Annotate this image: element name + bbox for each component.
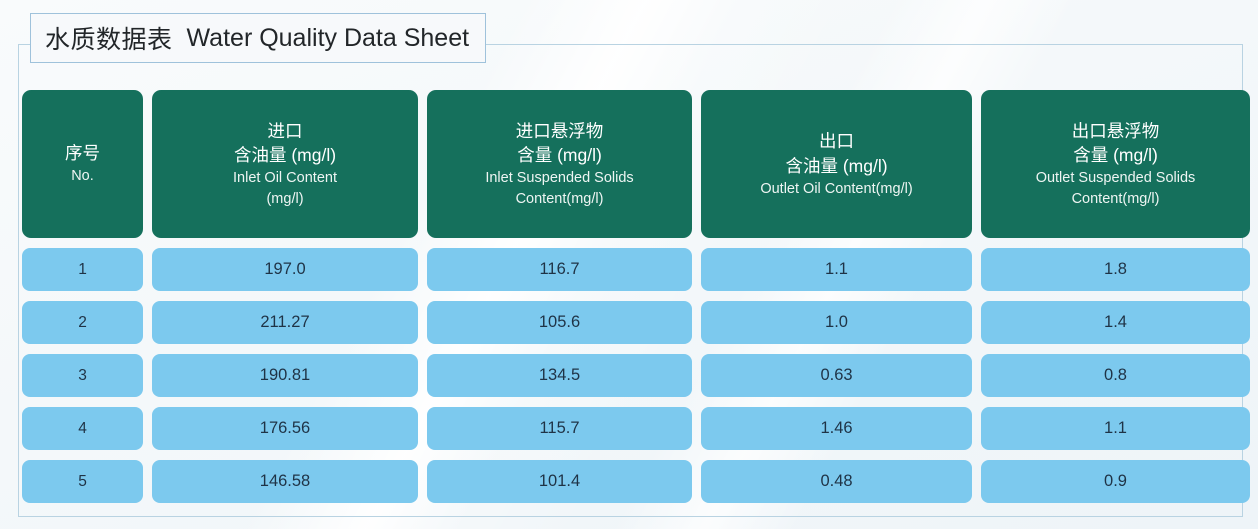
data-cell-outlet_ss: 1.1 <box>981 407 1250 450</box>
slide-canvas: 水质数据表 Water Quality Data Sheet 序号No.进口含油… <box>0 0 1258 529</box>
column-header-line: Inlet Oil Content <box>233 168 337 189</box>
column-header-line: Outlet Oil Content(mg/l) <box>760 179 912 200</box>
page-title: 水质数据表 Water Quality Data Sheet <box>30 13 486 63</box>
row-index-cell: 2 <box>22 301 143 344</box>
column-header-line: 含量 (mg/l) <box>1073 143 1158 168</box>
column-header-line: 出口 <box>819 129 854 154</box>
column-header-line: No. <box>71 166 94 187</box>
column-header-no: 序号No. <box>22 90 143 238</box>
column-header-line: Content(mg/l) <box>516 189 604 210</box>
row-index-cell: 4 <box>22 407 143 450</box>
row-index-cell: 5 <box>22 460 143 503</box>
data-cell-inlet_oil: 211.27 <box>152 301 418 344</box>
column-header-line: (mg/l) <box>266 189 303 210</box>
data-cell-inlet_ss: 115.7 <box>427 407 692 450</box>
column-header-line: 含油量 (mg/l) <box>234 143 336 168</box>
data-cell-outlet_ss: 0.8 <box>981 354 1250 397</box>
page-title-chinese: 水质数据表 <box>45 20 173 56</box>
data-cell-inlet_ss: 101.4 <box>427 460 692 503</box>
table-header-row: 序号No.进口含油量 (mg/l)Inlet Oil Content(mg/l)… <box>22 90 1233 238</box>
table-row: 5146.58101.40.480.9 <box>22 460 1233 503</box>
data-cell-outlet_oil: 1.0 <box>701 301 972 344</box>
table-row: 1197.0116.71.11.8 <box>22 248 1233 291</box>
column-header-outlet_oil: 出口含油量 (mg/l)Outlet Oil Content(mg/l) <box>701 90 972 238</box>
data-cell-outlet_oil: 1.46 <box>701 407 972 450</box>
column-header-line: 序号 <box>65 141 100 166</box>
column-header-inlet_ss: 进口悬浮物含量 (mg/l)Inlet Suspended SolidsCont… <box>427 90 692 238</box>
column-header-outlet_ss: 出口悬浮物含量 (mg/l)Outlet Suspended SolidsCon… <box>981 90 1250 238</box>
data-cell-inlet_oil: 197.0 <box>152 248 418 291</box>
data-cell-inlet_oil: 176.56 <box>152 407 418 450</box>
column-header-line: 含量 (mg/l) <box>517 143 602 168</box>
column-header-inlet_oil: 进口含油量 (mg/l)Inlet Oil Content(mg/l) <box>152 90 418 238</box>
column-header-line: Inlet Suspended Solids <box>485 168 633 189</box>
data-cell-outlet_ss: 0.9 <box>981 460 1250 503</box>
column-header-line: 进口 <box>268 119 303 144</box>
column-header-line: 含油量 (mg/l) <box>785 154 887 179</box>
data-cell-outlet_ss: 1.4 <box>981 301 1250 344</box>
data-cell-outlet_ss: 1.8 <box>981 248 1250 291</box>
data-cell-inlet_oil: 146.58 <box>152 460 418 503</box>
column-header-line: Outlet Suspended Solids <box>1036 168 1196 189</box>
data-cell-inlet_ss: 116.7 <box>427 248 692 291</box>
data-cell-outlet_oil: 0.63 <box>701 354 972 397</box>
row-index-cell: 3 <box>22 354 143 397</box>
water-quality-table: 序号No.进口含油量 (mg/l)Inlet Oil Content(mg/l)… <box>22 90 1233 503</box>
table-body: 1197.0116.71.11.82211.27105.61.01.43190.… <box>22 248 1233 503</box>
column-header-line: 进口悬浮物 <box>516 119 604 144</box>
column-header-line: 出口悬浮物 <box>1072 119 1160 144</box>
table-row: 2211.27105.61.01.4 <box>22 301 1233 344</box>
data-cell-inlet_ss: 105.6 <box>427 301 692 344</box>
column-header-line: Content(mg/l) <box>1072 189 1160 210</box>
table-row: 3190.81134.50.630.8 <box>22 354 1233 397</box>
data-cell-inlet_oil: 190.81 <box>152 354 418 397</box>
data-cell-outlet_oil: 1.1 <box>701 248 972 291</box>
data-cell-outlet_oil: 0.48 <box>701 460 972 503</box>
page-title-english: Water Quality Data Sheet <box>187 24 470 53</box>
table-row: 4176.56115.71.461.1 <box>22 407 1233 450</box>
row-index-cell: 1 <box>22 248 143 291</box>
data-cell-inlet_ss: 134.5 <box>427 354 692 397</box>
